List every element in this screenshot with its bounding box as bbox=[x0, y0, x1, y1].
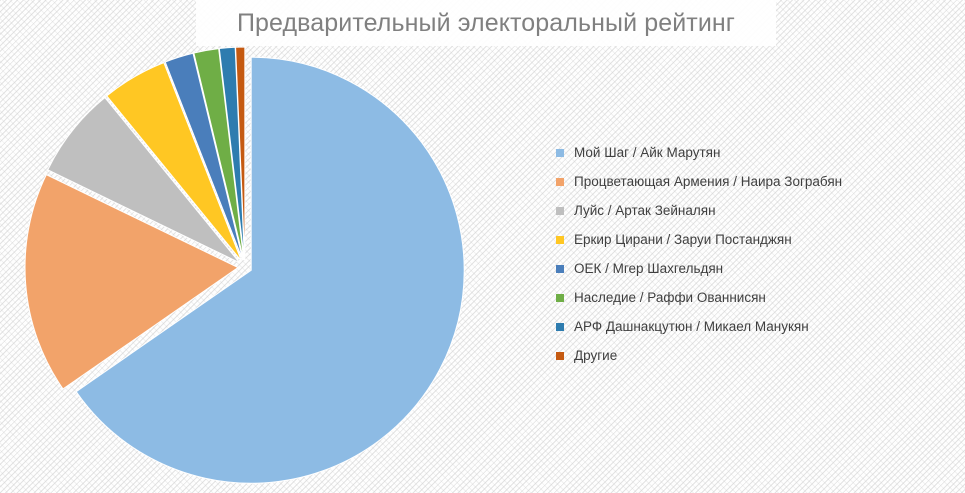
legend-label: Еркир Цирани / Заруи Постанджян bbox=[574, 233, 792, 247]
legend-color-swatch bbox=[556, 265, 564, 273]
legend-color-swatch bbox=[556, 178, 564, 186]
legend-item[interactable]: Процветающая Армения / Наира Зограбян bbox=[556, 167, 956, 196]
legend-label: Наследие / Раффи Ованнисян bbox=[574, 291, 766, 305]
pie-chart-area bbox=[0, 30, 500, 493]
legend-item[interactable]: Еркир Цирани / Заруи Постанджян bbox=[556, 225, 956, 254]
legend-label: ОЕК / Мгер Шахгельдян bbox=[574, 262, 723, 276]
legend-item[interactable]: Луйс / Артак Зейналян bbox=[556, 196, 956, 225]
legend-color-swatch bbox=[556, 323, 564, 331]
legend-label: Луйс / Артак Зейналян bbox=[574, 204, 716, 218]
legend-color-swatch bbox=[556, 236, 564, 244]
legend-item[interactable]: АРФ Дашнакцутюн / Микаел Манукян bbox=[556, 312, 956, 341]
legend-label: Процветающая Армения / Наира Зограбян bbox=[574, 175, 842, 189]
legend-color-swatch bbox=[556, 207, 564, 215]
pie-chart bbox=[0, 30, 500, 493]
chart-legend: Мой Шаг / Айк МарутянПроцветающая Армени… bbox=[556, 138, 956, 370]
legend-label: АРФ Дашнакцутюн / Микаел Манукян bbox=[574, 320, 809, 334]
legend-label: Мой Шаг / Айк Марутян bbox=[574, 146, 720, 160]
legend-label: Другие bbox=[574, 349, 617, 363]
legend-color-swatch bbox=[556, 294, 564, 302]
legend-item[interactable]: Мой Шаг / Айк Марутян bbox=[556, 138, 956, 167]
legend-item[interactable]: Другие bbox=[556, 341, 956, 370]
legend-color-swatch bbox=[556, 352, 564, 360]
legend-item[interactable]: Наследие / Раффи Ованнисян bbox=[556, 283, 956, 312]
legend-color-swatch bbox=[556, 149, 564, 157]
legend-item[interactable]: ОЕК / Мгер Шахгельдян bbox=[556, 254, 956, 283]
